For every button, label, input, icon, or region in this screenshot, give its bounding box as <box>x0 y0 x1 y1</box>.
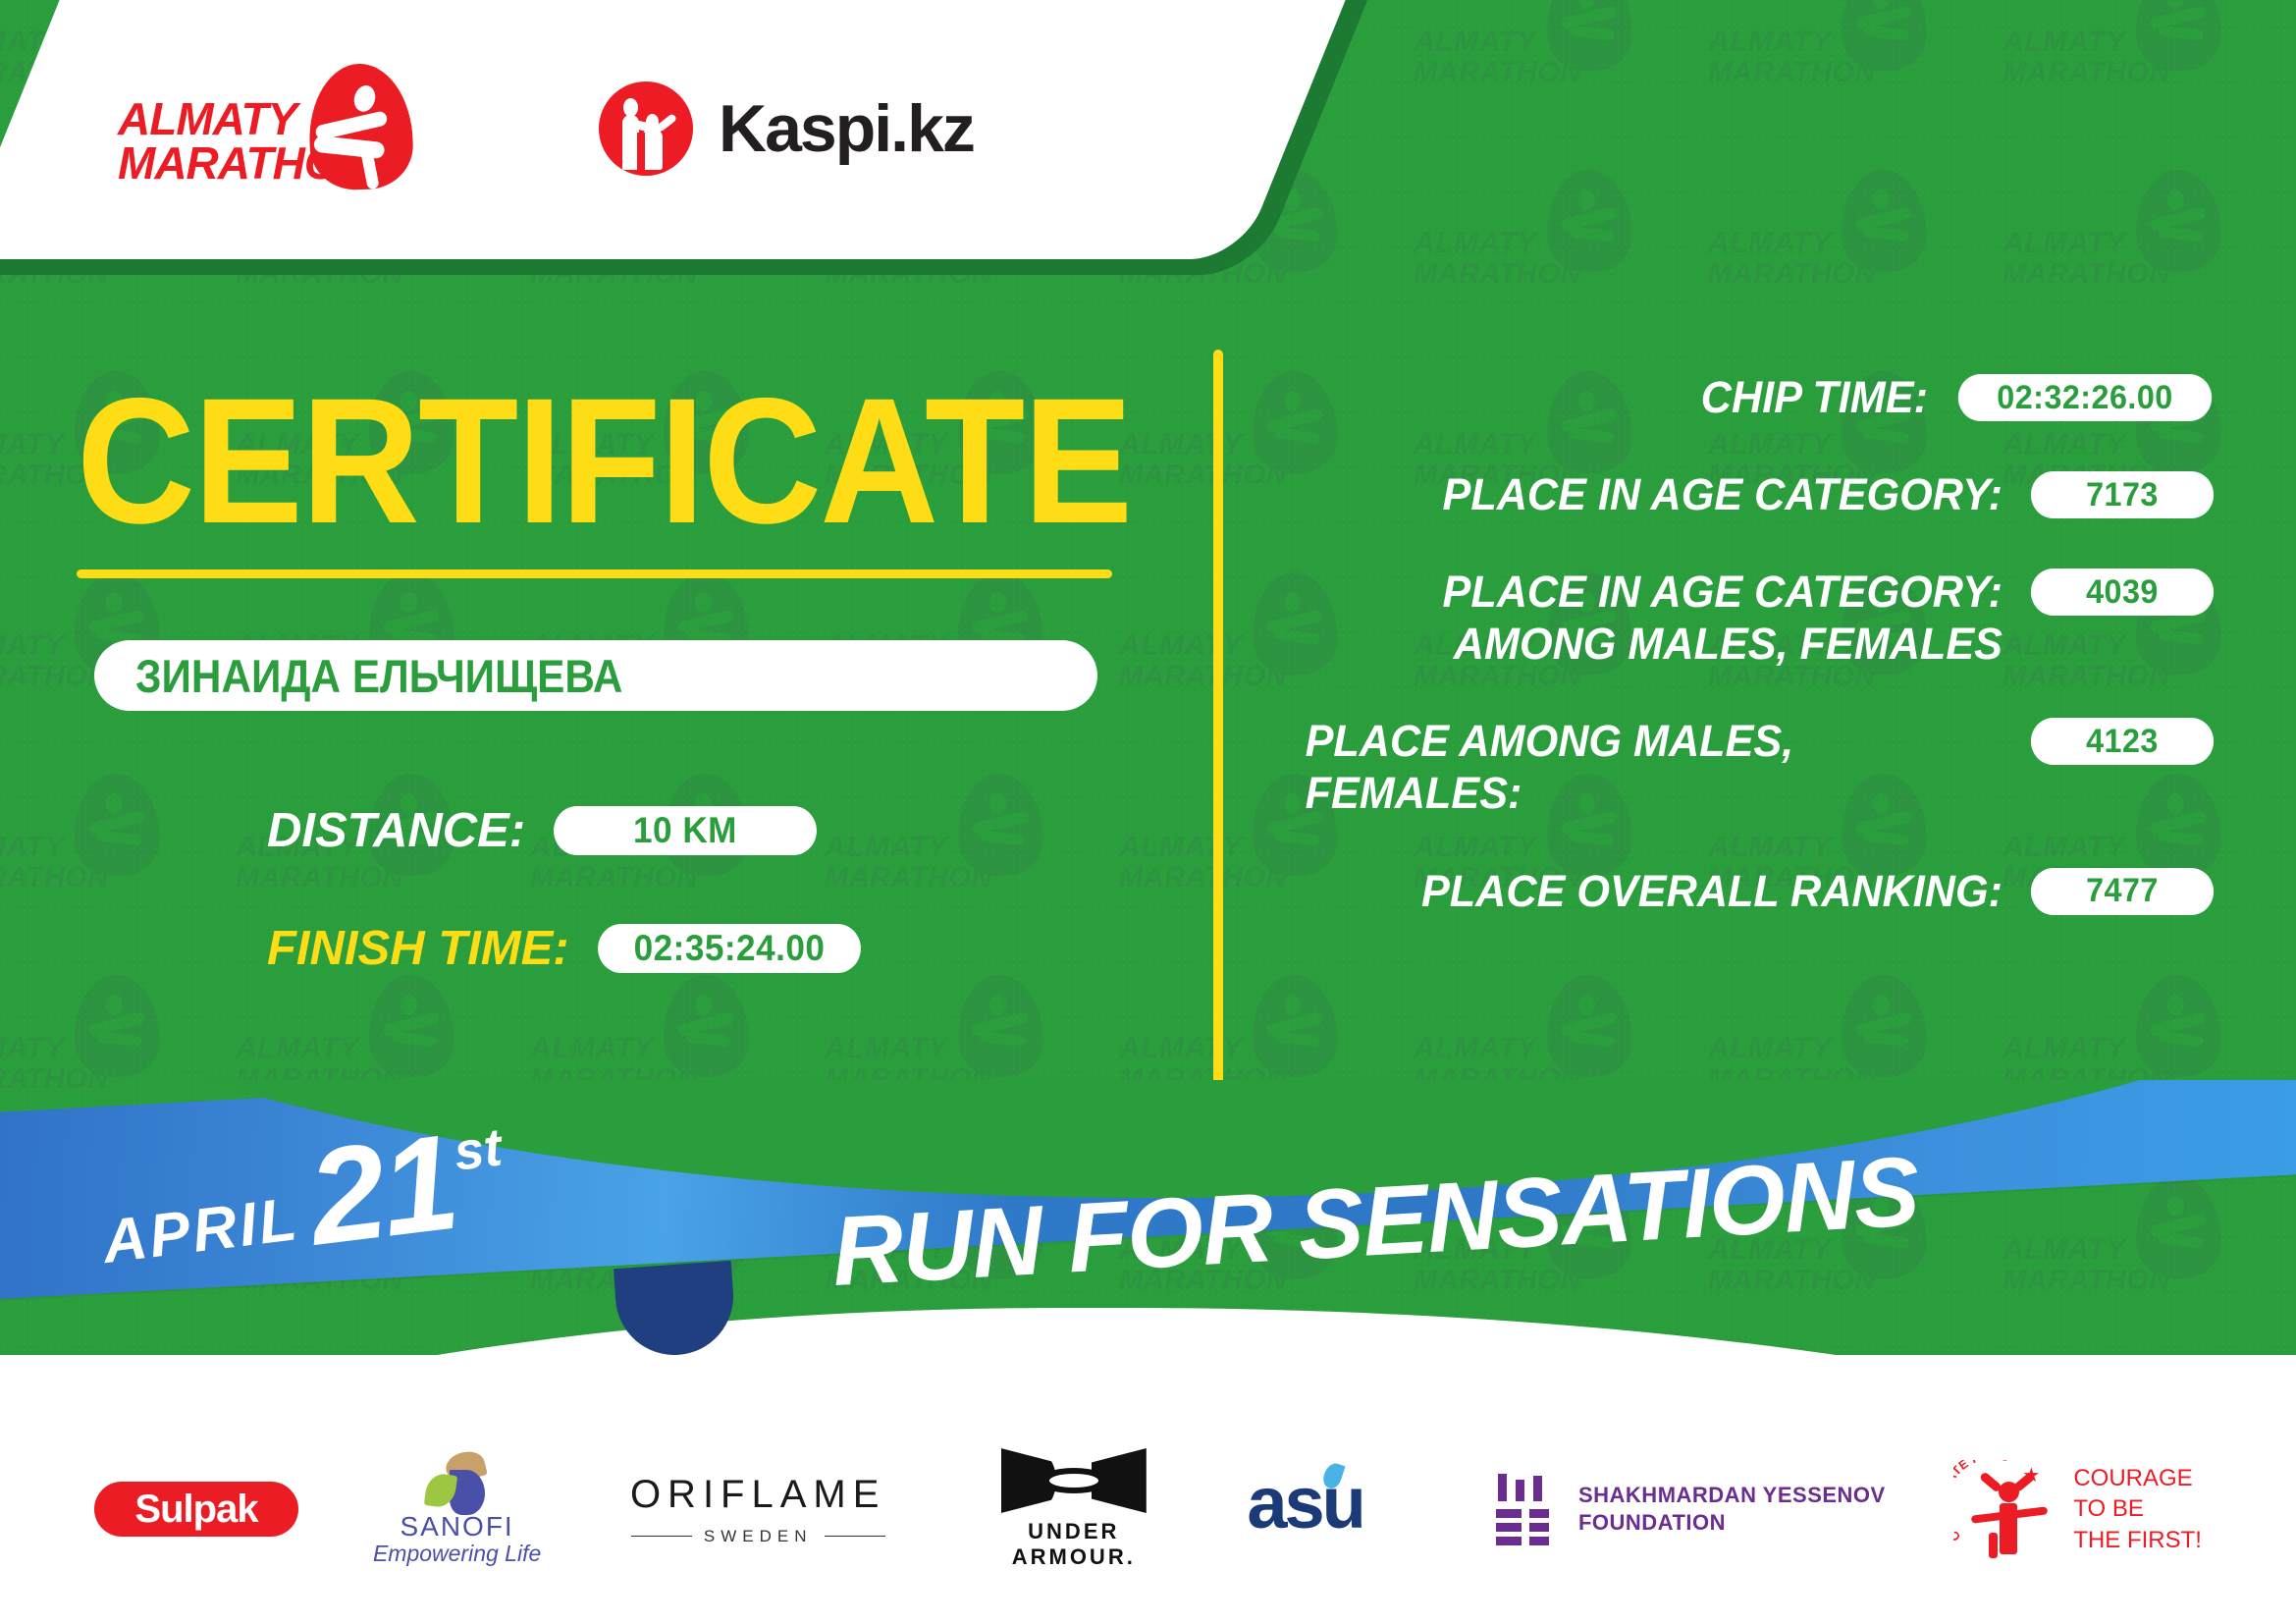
column-divider <box>1213 350 1223 1101</box>
watermark-runner-head <box>989 793 1006 814</box>
courage-wordmark: COURAGE TO BE THE FIRST! <box>2073 1463 2202 1555</box>
distance-value: 10 KM <box>554 806 817 855</box>
almaty-marathon-logo: ALMATY MARATHON <box>118 50 412 207</box>
oriflame-country: SWEDEN <box>704 1527 813 1546</box>
watermark-runner-head <box>2167 189 2184 210</box>
sponsor-under-armour: UNDER ARMOUR. <box>971 1448 1177 1570</box>
kaspi-wordmark: Kaspi.kz <box>719 90 974 167</box>
watermark-tile: ALMATYMARATHON <box>1414 0 1708 162</box>
title-underline <box>77 569 1112 578</box>
sponsor-asu: asu <box>1247 1467 1423 1551</box>
stat-row: PLACE IN AGE CATEGORY: 7173 <box>1276 468 2218 520</box>
stat-row: PLACE OVERALL RANKING: 7477 <box>1276 865 2218 917</box>
watermark-runner-head <box>1578 189 1595 210</box>
courage-logo: CORPORATE FUND ★ COURAGE TO BE THE FIRST… <box>1955 1456 2202 1562</box>
sponsor-bar: Sulpak SANOFI Empowering Life ORIFLAME S… <box>0 1394 2296 1624</box>
watermark-tile: ALMATYMARATHON <box>0 766 236 967</box>
sulpak-logo: Sulpak <box>94 1482 298 1537</box>
watermark-line-1: ALMATY <box>825 1034 1041 1063</box>
yessenov-line-1: SHAKHMARDAN YESSENOV <box>1578 1482 1886 1509</box>
header-panel: ALMATY MARATHON <box>0 0 1286 285</box>
ribbon-bottom-curve <box>0 1308 2296 1404</box>
place-age-category-gender-label: PLACE IN AGE CATEGORY: AMONG MALES, FEMA… <box>1306 566 2002 670</box>
watermark-line-1: ALMATY <box>825 833 1041 862</box>
watermark-line-2: MARATHON <box>2002 260 2218 289</box>
sponsor-yessenov-foundation: SHAKHMARDAN YESSENOV FOUNDATION <box>1494 1474 1886 1544</box>
sanofi-wordmark: SANOFI <box>369 1511 546 1543</box>
place-overall-value: 7477 <box>2031 868 2214 915</box>
watermark-line-1: ALMATY <box>2002 229 2218 258</box>
oriflame-wordmark: ORIFLAME <box>615 1473 900 1517</box>
yessenov-wordmark: SHAKHMARDAN YESSENOV FOUNDATION <box>1578 1482 1886 1537</box>
watermark-line-1: ALMATY <box>2002 1034 2218 1063</box>
kaspi-family-circle-icon <box>599 81 693 176</box>
courage-line-1: COURAGE <box>2073 1463 2202 1493</box>
asu-logo: asu <box>1247 1467 1423 1551</box>
sanofi-logo: SANOFI Empowering Life <box>369 1450 546 1568</box>
watermark-line-1: ALMATY <box>1708 1034 1924 1063</box>
watermark-line-1: ALMATY <box>1414 229 1629 258</box>
event-day: 21 <box>303 1124 461 1258</box>
stat-row: CHIP TIME: 02:32:26.00 <box>1276 371 2218 423</box>
athlete-name-field: ЗИНАИДА ЕЛЬЧИЩЕВА <box>94 640 1097 711</box>
athlete-name: ЗИНАИДА ЕЛЬЧИЩЕВА <box>135 649 622 703</box>
sponsor-sanofi: SANOFI Empowering Life <box>369 1450 546 1568</box>
watermark-runner-head <box>1578 995 1595 1015</box>
watermark-line-2: MARATHON <box>530 864 746 893</box>
watermark-tile: ALMATYMARATHON <box>1708 162 2002 363</box>
page-title: CERTIFICATE <box>77 371 1131 550</box>
finish-time-label: FINISH TIME: <box>267 921 569 976</box>
sponsor-oriflame: ORIFLAME SWEDEN <box>615 1473 900 1546</box>
watermark-runner-head <box>400 592 417 613</box>
watermark-line-1: ALMATY <box>0 1034 157 1063</box>
under-armour-icon <box>1001 1448 1147 1513</box>
under-armour-wordmark: UNDER ARMOUR. <box>971 1519 1177 1570</box>
watermark-runner-head <box>400 995 417 1015</box>
watermark-runner-head <box>989 592 1006 613</box>
watermark-line-1: ALMATY <box>0 833 157 862</box>
sponsor-courage-fund: CORPORATE FUND ★ COURAGE TO BE THE FIRST… <box>1955 1456 2202 1562</box>
oriflame-logo: ORIFLAME SWEDEN <box>615 1473 900 1546</box>
runner-drop-icon <box>307 62 414 191</box>
watermark-runner-head <box>106 995 123 1015</box>
place-among-gender-value: 4123 <box>2031 718 2214 765</box>
watermark-runner-head <box>106 793 123 814</box>
watermark-runner-head <box>1873 189 1890 210</box>
stat-row: PLACE IN AGE CATEGORY: AMONG MALES, FEMA… <box>1276 566 2218 670</box>
place-age-category-value: 7173 <box>2031 471 2214 518</box>
watermark-runner-head <box>989 995 1006 1015</box>
watermark-line-1: ALMATY <box>1119 1034 1335 1063</box>
watermark-line-1: ALMATY <box>236 1034 452 1063</box>
label-line-1: PLACE IN AGE CATEGORY: <box>1306 566 2002 618</box>
chip-time-label: CHIP TIME: <box>1303 371 1928 423</box>
finish-time-value: 02:35:24.00 <box>598 924 861 973</box>
watermark-tile: ALMATYMARATHON <box>2002 162 2296 363</box>
watermark-line-1: ALMATY <box>1414 1034 1629 1063</box>
certificate-page: ALMATYMARATHONALMATYMARATHONALMATYMARATH… <box>0 0 2296 1624</box>
watermark-line-1: ALMATY <box>1414 27 1629 57</box>
oriflame-sub: SWEDEN <box>615 1527 900 1546</box>
stats-column: CHIP TIME: 02:32:26.00 PLACE IN AGE CATE… <box>1276 371 2218 962</box>
yessenov-bars-icon <box>1494 1474 1555 1544</box>
watermark-line-2: MARATHON <box>1708 260 1924 289</box>
yessenov-logo: SHAKHMARDAN YESSENOV FOUNDATION <box>1494 1474 1886 1544</box>
divider-line-left <box>631 1536 692 1537</box>
watermark-runner-head <box>1873 995 1890 1015</box>
watermark-runner-head <box>1284 995 1301 1015</box>
under-armour-logo: UNDER ARMOUR. <box>971 1448 1177 1570</box>
watermark-tile: ALMATYMARATHON <box>825 766 1119 967</box>
place-overall-label: PLACE OVERALL RANKING: <box>1306 865 2002 917</box>
watermark-line-2: MARATHON <box>0 864 157 893</box>
watermark-runner-head <box>695 995 712 1015</box>
watermark-tile: ALMATYMARATHON <box>2002 0 2296 162</box>
yessenov-line-2: FOUNDATION <box>1578 1509 1886 1537</box>
watermark-runner-head <box>695 592 712 613</box>
distance-row: DISTANCE: 10 KM <box>267 803 824 858</box>
watermark-tile: ALMATYMARATHON <box>1414 162 1708 363</box>
watermark-line-1: ALMATY <box>530 1034 746 1063</box>
courage-line-3: THE FIRST! <box>2073 1525 2202 1555</box>
watermark-line-2: MARATHON <box>236 864 452 893</box>
kaspi-logo: Kaspi.kz <box>599 81 974 176</box>
stat-row: PLACE AMONG MALES, FEMALES: 4123 <box>1276 715 2218 819</box>
watermark-line-1: ALMATY <box>2002 27 2218 57</box>
event-ribbon: APRIL 21 st RUN FOR SENSATIONS <box>0 1080 2296 1404</box>
sanofi-tagline: Empowering Life <box>369 1541 546 1567</box>
watermark-line-1: ALMATY <box>1708 27 1924 57</box>
watermark-line-1: ALMATY <box>1708 229 1924 258</box>
finish-time-row: FINISH TIME: 02:35:24.00 <box>267 921 868 976</box>
watermark-line-2: MARATHON <box>825 864 1041 893</box>
distance-label: DISTANCE: <box>267 803 525 858</box>
place-among-gender-label: PLACE AMONG MALES, FEMALES: <box>1306 715 2002 819</box>
watermark-runner-head <box>106 592 123 613</box>
place-age-category-label: PLACE IN AGE CATEGORY: <box>1306 468 2002 520</box>
watermark-line-2: MARATHON <box>1414 260 1629 289</box>
courage-runner-icon: CORPORATE FUND ★ <box>1955 1456 2057 1562</box>
chip-time-value: 02:32:26.00 <box>1958 374 2212 421</box>
sanofi-bird-icon <box>369 1450 546 1509</box>
divider-line-right <box>825 1536 885 1537</box>
sponsor-sulpak: Sulpak <box>94 1482 298 1537</box>
label-line-2: AMONG MALES, FEMALES <box>1306 618 2002 670</box>
place-age-category-gender-value: 4039 <box>2031 568 2214 616</box>
courage-line-2: TO BE <box>2073 1493 2202 1524</box>
watermark-runner-head <box>2167 995 2184 1015</box>
watermark-line-2: MARATHON <box>1414 59 1629 87</box>
label-line-1: PLACE AMONG MALES, <box>1306 715 2002 767</box>
watermark-line-2: MARATHON <box>1708 59 1924 87</box>
watermark-line-2: MARATHON <box>2002 59 2218 87</box>
watermark-tile: ALMATYMARATHON <box>1708 0 2002 162</box>
label-line-2: FEMALES: <box>1306 767 2002 819</box>
